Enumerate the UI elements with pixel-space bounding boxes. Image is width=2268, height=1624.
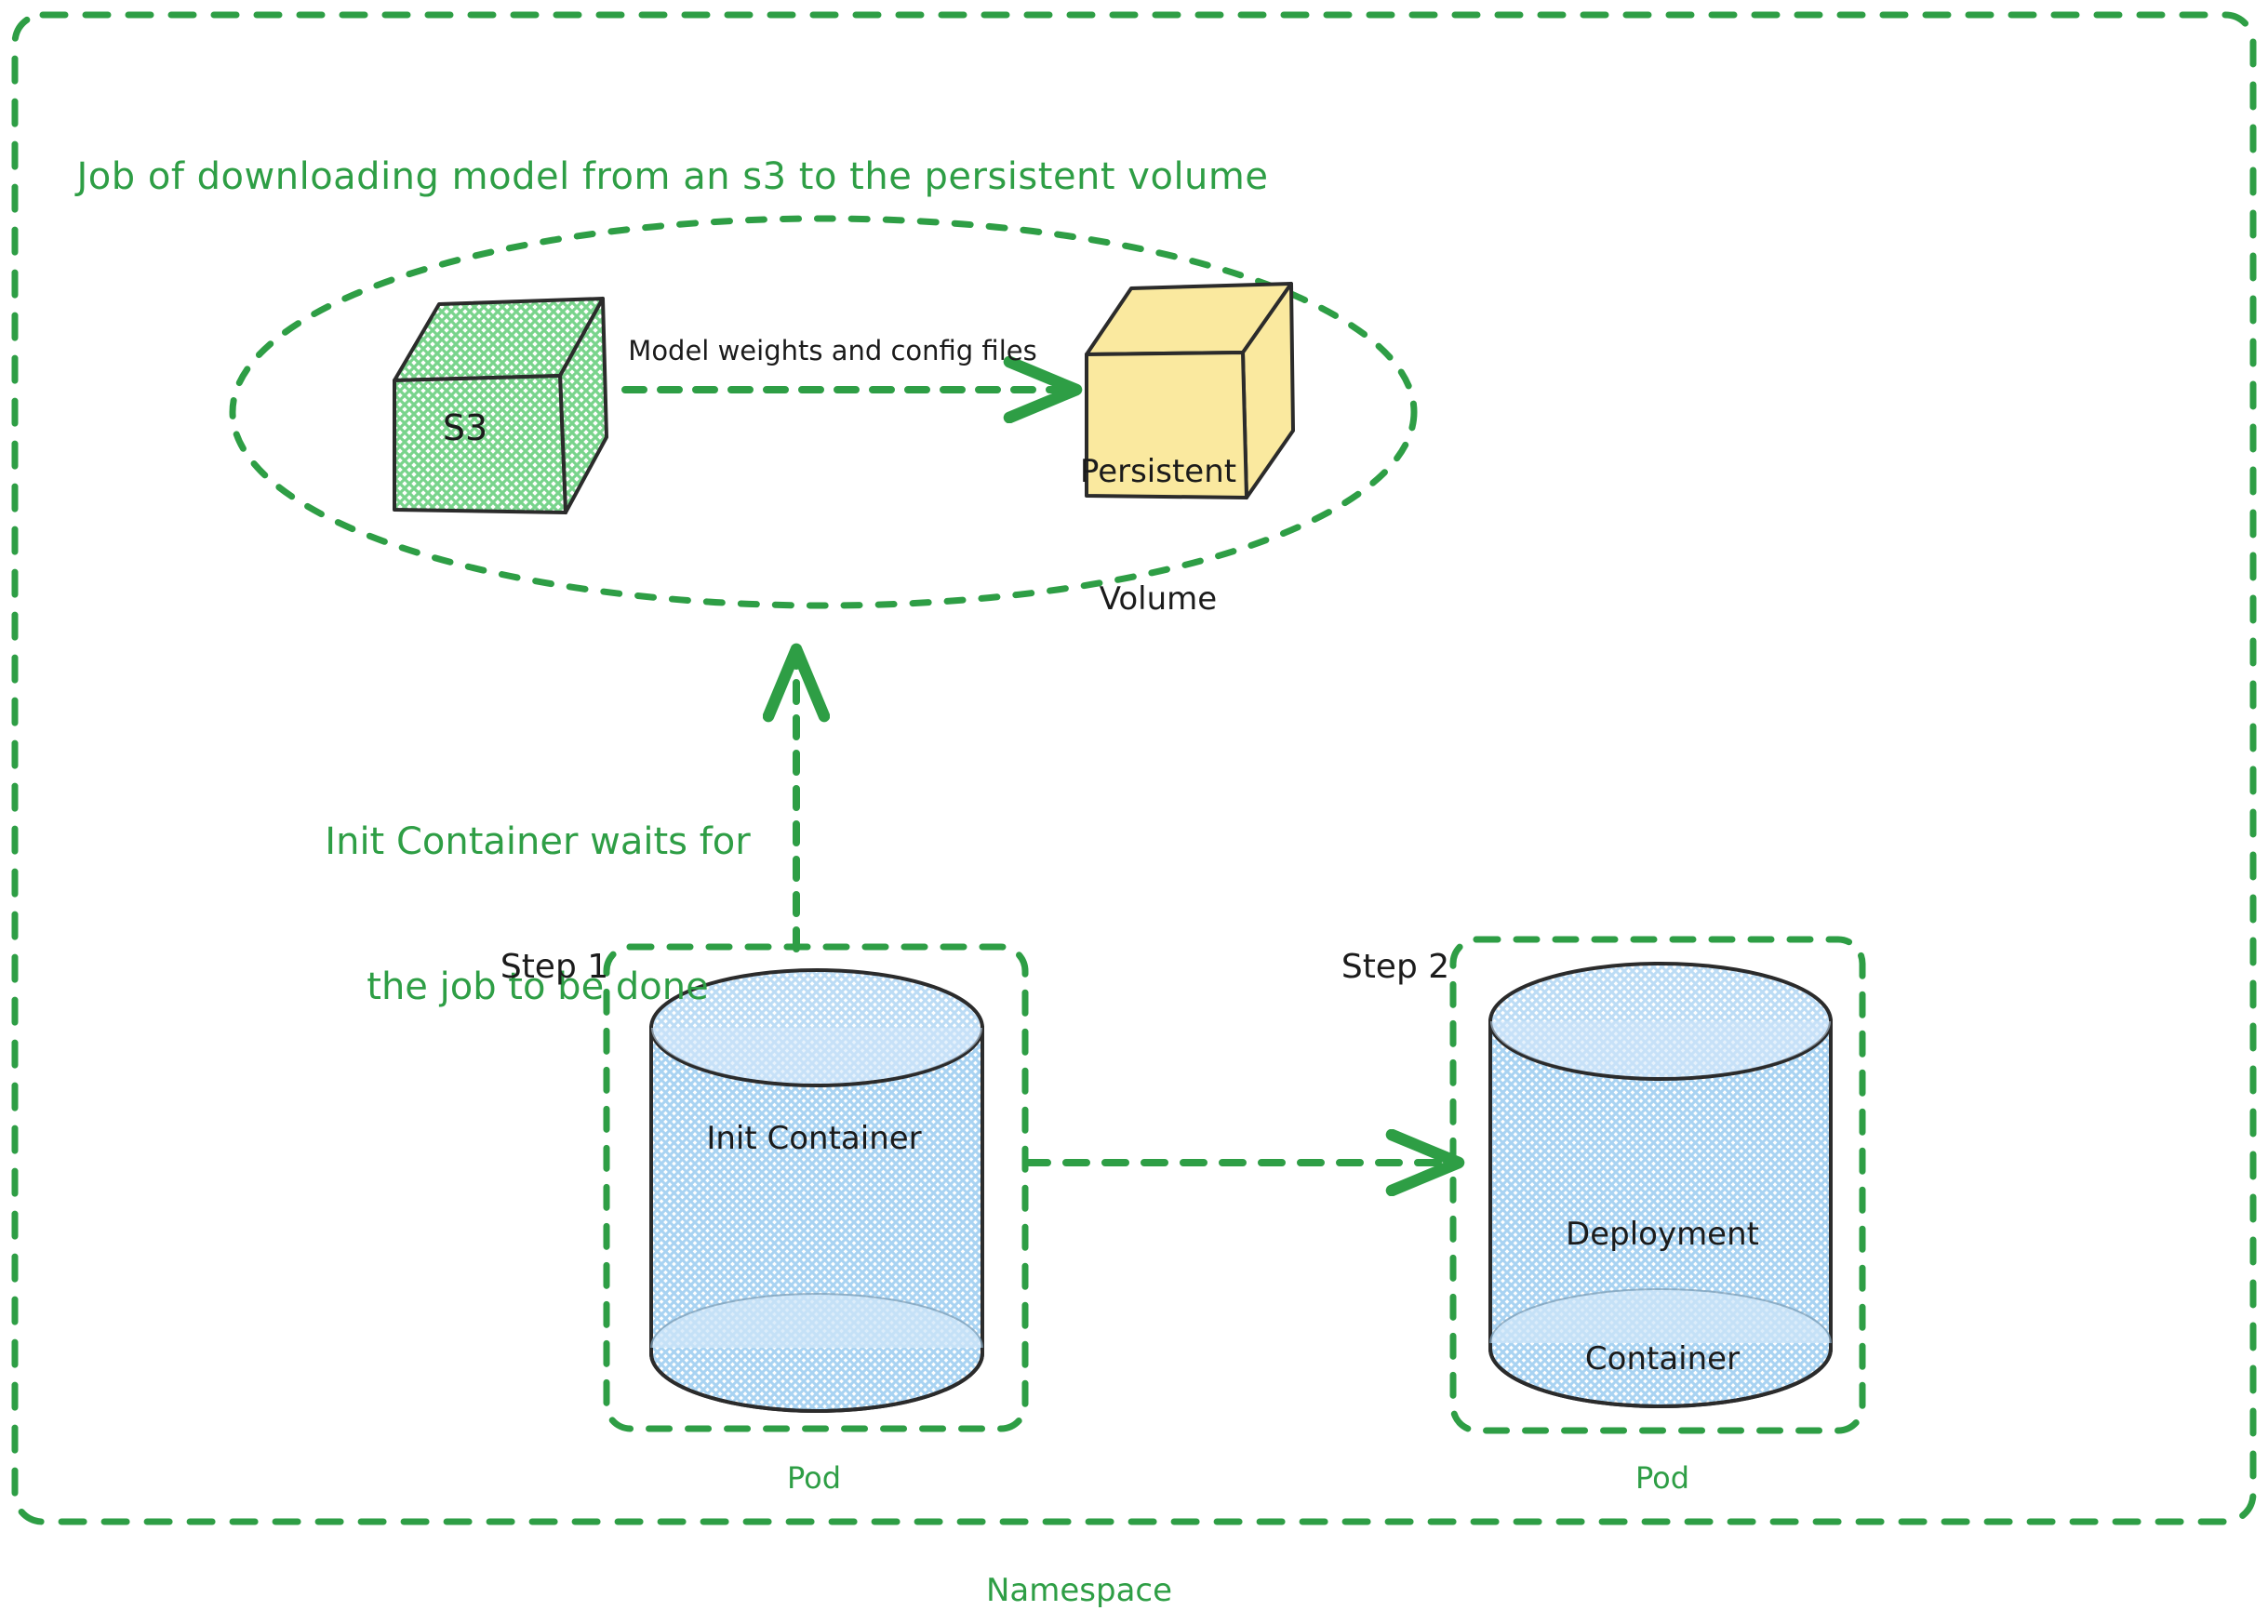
deployment-container-cylinder <box>1490 964 1831 1406</box>
diagram-canvas: Job of downloading model from an s3 to t… <box>0 0 2268 1624</box>
namespace-boundary <box>15 15 2253 1522</box>
persistent-volume-cube <box>1087 284 1293 498</box>
init-container-cylinder <box>651 970 982 1411</box>
s3-cube <box>394 299 607 512</box>
diagram-svg <box>0 0 2268 1624</box>
